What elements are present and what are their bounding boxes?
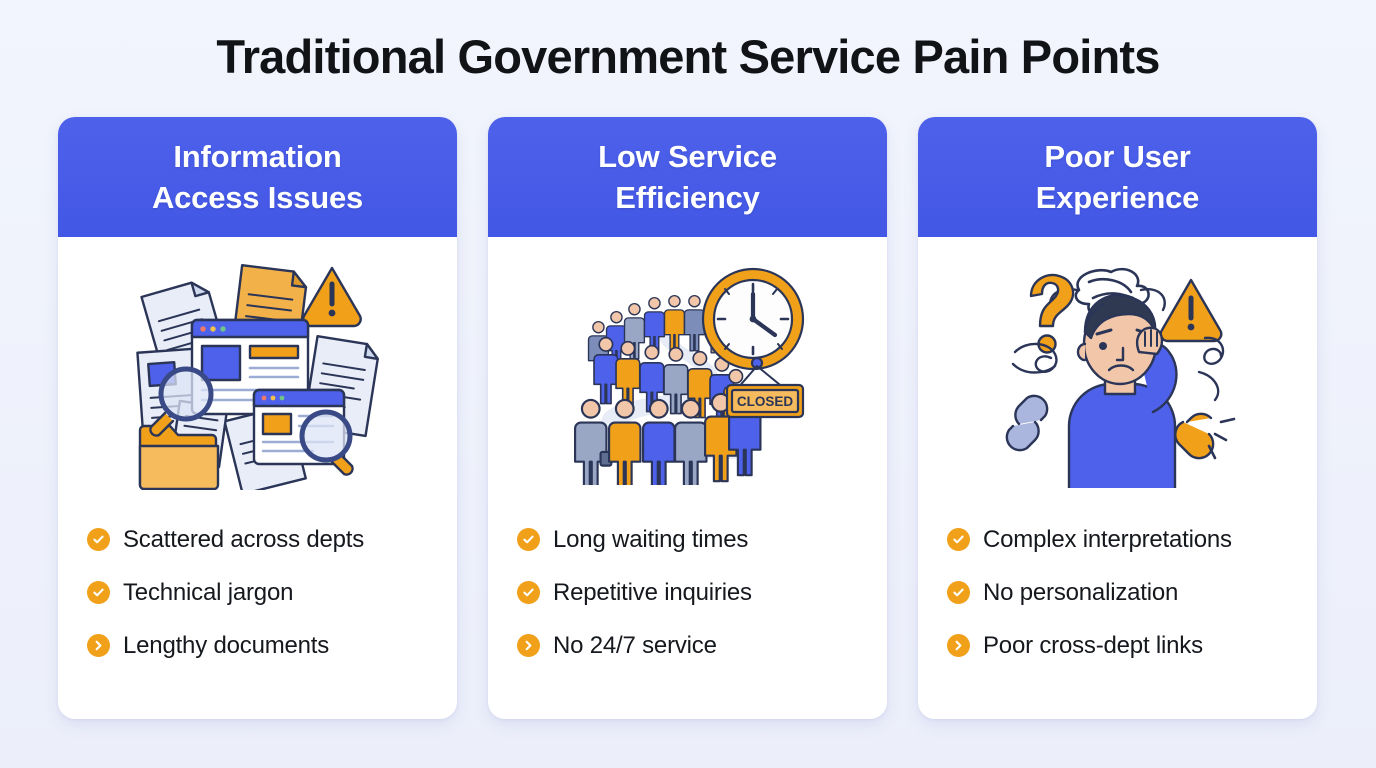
- list-item-label: No personalization: [983, 579, 1178, 607]
- confused-person-illustration: [918, 255, 1317, 493]
- list-item-label: No 24/7 service: [553, 632, 717, 660]
- closed-sign-text: CLOSED: [736, 394, 793, 409]
- list-item[interactable]: Poor cross-dept links: [947, 619, 1317, 672]
- card-title: Information Access Issues: [152, 136, 363, 218]
- chevron-right-circle-icon: [947, 634, 970, 657]
- list-item-label: Scattered across depts: [123, 526, 364, 554]
- list-item-label: Poor cross-dept links: [983, 632, 1203, 660]
- list-item[interactable]: No personalization: [947, 566, 1317, 619]
- card-header: Poor User Experience: [918, 117, 1317, 237]
- card-low-service-efficiency[interactable]: Low Service Efficiency: [488, 117, 887, 719]
- page-title: Traditional Government Service Pain Poin…: [0, 30, 1376, 84]
- bullet-list: Scattered across depts Technical jargon …: [58, 493, 457, 672]
- card-poor-user-experience[interactable]: Poor User Experience: [918, 117, 1317, 719]
- card-header: Information Access Issues: [58, 117, 457, 237]
- check-circle-icon: [87, 581, 110, 604]
- scattered-documents-search-illustration: [58, 255, 457, 493]
- list-item[interactable]: No 24/7 service: [517, 619, 887, 672]
- long-queue-clock-closed-illustration: CLOSED: [488, 255, 887, 493]
- list-item[interactable]: Repetitive inquiries: [517, 566, 887, 619]
- list-item-label: Repetitive inquiries: [553, 579, 752, 607]
- check-circle-icon: [947, 528, 970, 551]
- card-row: Information Access Issues: [58, 117, 1318, 719]
- card-body: Complex interpretations No personalizati…: [918, 237, 1317, 719]
- card-title: Poor User Experience: [1036, 136, 1199, 218]
- bullet-list: Long waiting times Repetitive inquiries …: [488, 493, 887, 672]
- card-title: Low Service Efficiency: [598, 136, 777, 218]
- list-item-label: Complex interpretations: [983, 526, 1232, 554]
- card-information-access-issues[interactable]: Information Access Issues: [58, 117, 457, 719]
- list-item[interactable]: Lengthy documents: [87, 619, 457, 672]
- card-body: Scattered across depts Technical jargon …: [58, 237, 457, 719]
- check-circle-icon: [517, 528, 540, 551]
- card-body: CLOSED Long waiting times: [488, 237, 887, 719]
- check-circle-icon: [947, 581, 970, 604]
- check-circle-icon: [87, 528, 110, 551]
- bullet-list: Complex interpretations No personalizati…: [918, 493, 1317, 672]
- pain-points-infographic: Traditional Government Service Pain Poin…: [0, 0, 1376, 768]
- list-item[interactable]: Complex interpretations: [947, 513, 1317, 566]
- list-item-label: Technical jargon: [123, 579, 293, 607]
- chevron-right-circle-icon: [87, 634, 110, 657]
- list-item[interactable]: Long waiting times: [517, 513, 887, 566]
- list-item[interactable]: Scattered across depts: [87, 513, 457, 566]
- card-header: Low Service Efficiency: [488, 117, 887, 237]
- check-circle-icon: [517, 581, 540, 604]
- list-item-label: Lengthy documents: [123, 632, 329, 660]
- list-item[interactable]: Technical jargon: [87, 566, 457, 619]
- chevron-right-circle-icon: [517, 634, 540, 657]
- list-item-label: Long waiting times: [553, 526, 748, 554]
